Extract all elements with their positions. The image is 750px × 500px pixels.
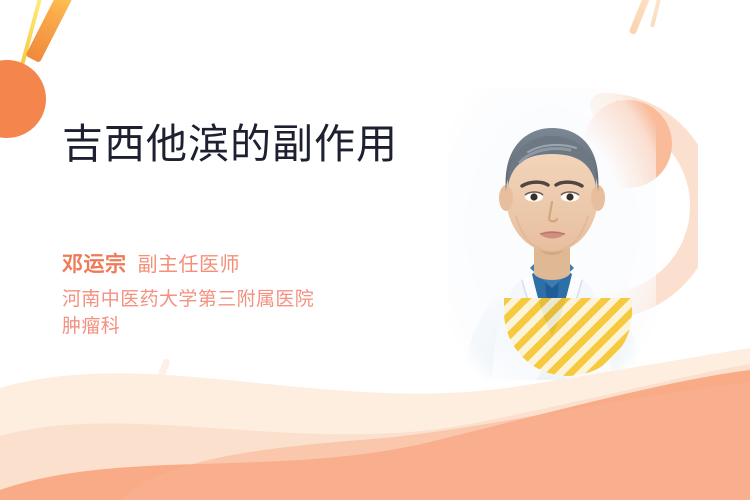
diagonal-stroke-yellow-icon xyxy=(18,0,46,73)
page-title: 吉西他滨的副作用 xyxy=(62,122,398,168)
doctor-hospital: 河南中医药大学第三附属医院 xyxy=(62,287,314,314)
doctor-video-cover: 吉西他滨的副作用 邓运宗副主任医师 河南中医药大学第三附属医院 肿瘤科 xyxy=(0,0,750,500)
doctor-portrait-photo xyxy=(448,88,656,380)
doctor-identity: 邓运宗副主任医师 xyxy=(62,248,240,278)
doctor-role: 副主任医师 xyxy=(138,254,241,276)
diagonal-stroke-top-right-1-icon xyxy=(629,0,659,35)
diagonal-stroke-orange-icon xyxy=(25,0,78,63)
doctor-department: 肿瘤科 xyxy=(62,314,314,341)
faint-diagonal-stroke-icon xyxy=(150,358,170,398)
doctor-name: 邓运宗 xyxy=(62,253,127,276)
orange-circle-icon xyxy=(0,60,46,138)
diagonal-stroke-top-right-2-icon xyxy=(650,0,668,28)
doctor-affiliation: 河南中医药大学第三附属医院 肿瘤科 xyxy=(62,287,314,341)
